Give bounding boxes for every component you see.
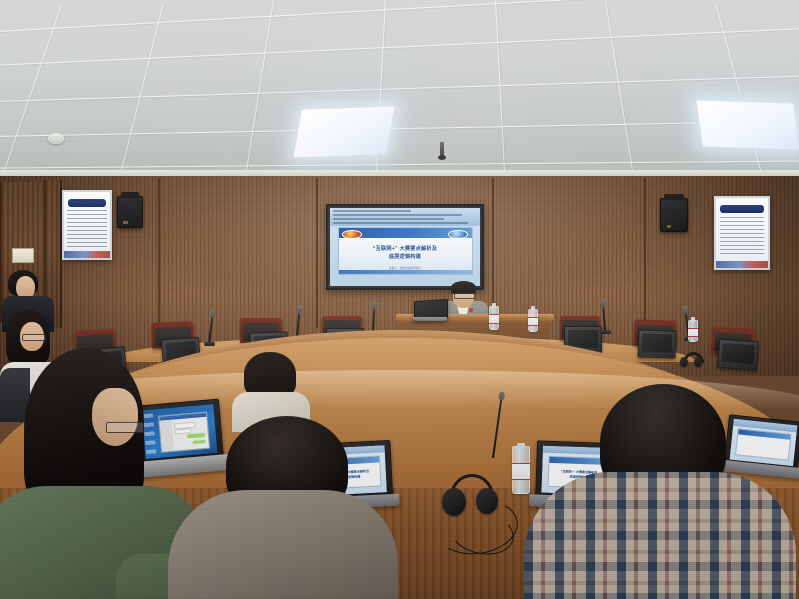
wall-seam	[158, 178, 160, 346]
glasses-icon	[22, 334, 46, 341]
ceiling-grid-line	[117, 3, 164, 186]
ceiling-grid-line	[0, 160, 799, 169]
ceiling-grid-line	[0, 119, 799, 138]
smoke-detector	[48, 133, 64, 144]
wall-seam	[316, 178, 318, 328]
ceiling-grid-line	[605, 1, 636, 186]
laptop-base	[413, 317, 447, 321]
poster-right	[714, 196, 770, 270]
poster-left	[62, 190, 112, 260]
poster-text-lines	[67, 210, 107, 248]
ceiling-grid-line	[0, 73, 799, 104]
ceiling-grid-line	[0, 0, 799, 35]
poster-footer-band	[64, 251, 110, 258]
presenter-laptop[interactable]	[414, 300, 446, 322]
ceiling-grid-line	[495, 0, 506, 186]
competition-logo-icon	[448, 230, 467, 239]
ceiling-grid-line	[0, 5, 62, 185]
lapel-pin-icon	[469, 308, 473, 312]
attendee-grey-shirt	[168, 416, 398, 599]
sprinkler-head	[440, 142, 444, 157]
university-emblem-icon	[342, 230, 361, 239]
door-sign	[12, 248, 34, 263]
attendee-body	[168, 490, 398, 599]
attendee-body	[524, 472, 796, 599]
water-bottle[interactable]	[528, 309, 538, 332]
water-bottle[interactable]	[489, 306, 499, 330]
attendee-head	[92, 388, 138, 446]
powerpoint-window-chrome	[330, 208, 480, 226]
poster-header-band	[720, 205, 764, 213]
wall-speaker-left	[117, 196, 143, 228]
ceiling-grid-line	[0, 25, 799, 69]
poster-header-band	[68, 199, 107, 207]
poster-footer-band	[716, 261, 768, 268]
wall-speaker-right	[660, 198, 688, 232]
suspended-ceiling	[0, 0, 799, 186]
conference-room-photo: “互联网+” 大赛要点解析及 底层逻辑构建 主讲人：创新创业指导中心	[0, 0, 799, 599]
projection-screen: “互联网+” 大赛要点解析及 底层逻辑构建 主讲人：创新创业指导中心	[326, 204, 484, 290]
attendee-plaid-shirt	[524, 384, 796, 599]
presentation-slide: “互联网+” 大赛要点解析及 底层逻辑构建 主讲人：创新创业指导中心	[338, 227, 473, 275]
attendee-rear-left-c	[232, 352, 310, 424]
ceiling-grid-line	[375, 0, 386, 186]
ceiling-light-panel	[293, 106, 394, 157]
glasses-icon	[454, 293, 475, 299]
slide-footer-band	[339, 270, 472, 274]
poster-text-lines	[720, 217, 765, 257]
glasses-icon	[106, 422, 144, 433]
ceiling-light-panel	[696, 100, 799, 149]
slide-title-text: “互联网+” 大赛要点解析及 底层逻辑构建	[346, 245, 463, 261]
